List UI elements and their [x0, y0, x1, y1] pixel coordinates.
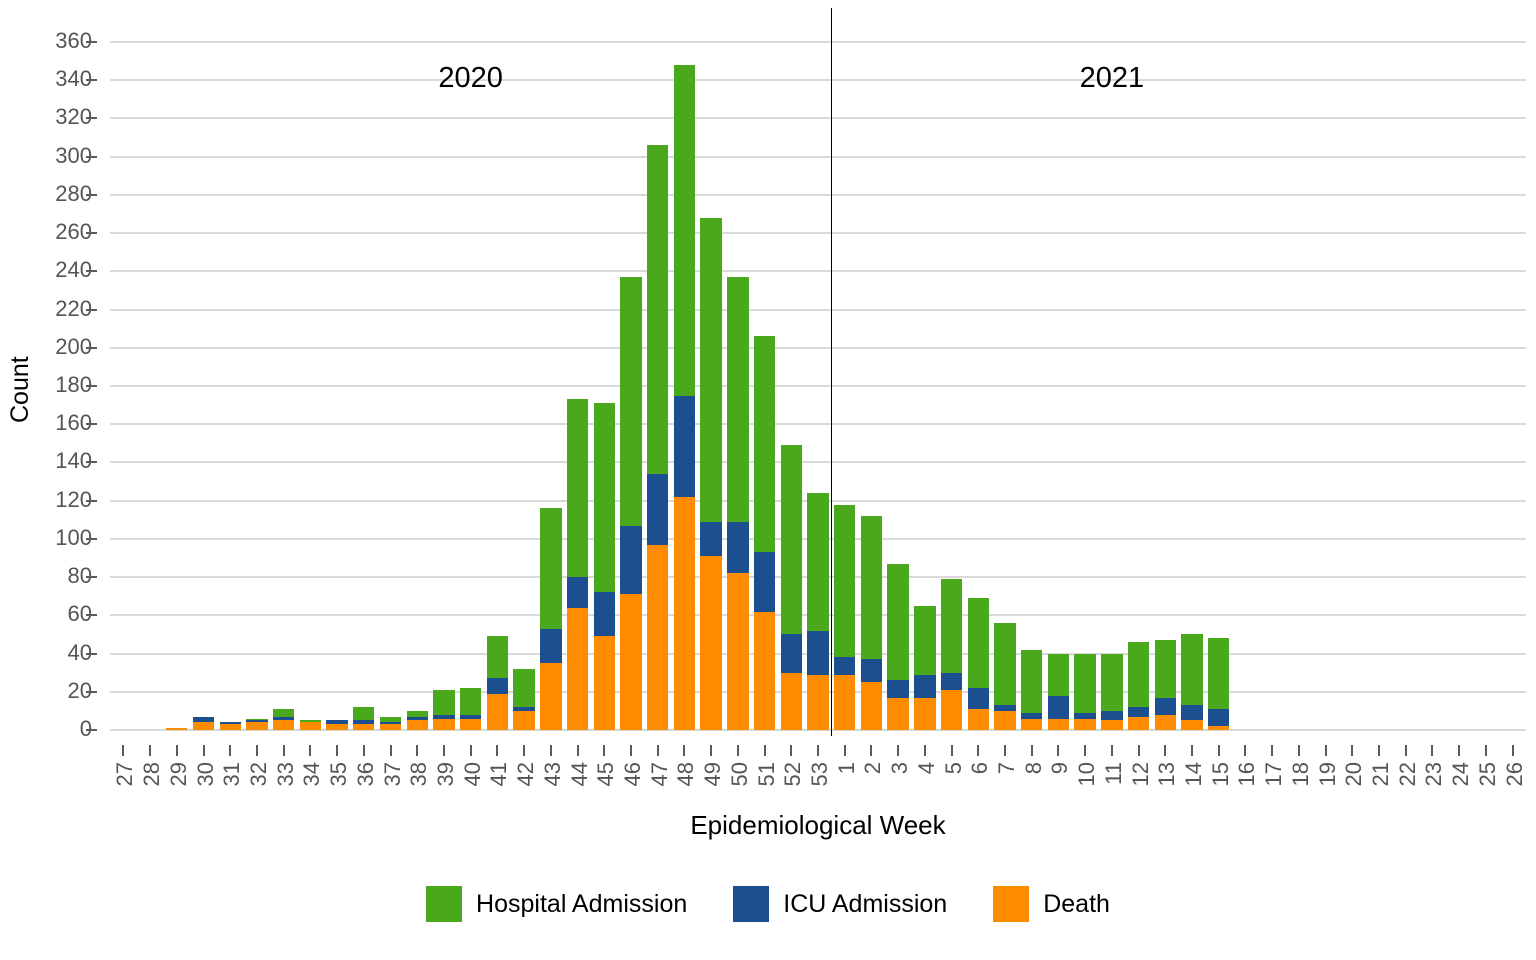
- bar-segment-hospital-admission[interactable]: [700, 218, 721, 522]
- x-axis-tick-mark: [496, 745, 498, 756]
- bar-segment-death[interactable]: [994, 711, 1015, 730]
- bar-group-week-10[interactable]: [1074, 654, 1095, 730]
- bar-segment-death[interactable]: [620, 594, 641, 730]
- y-axis-tick-label: 100: [12, 529, 92, 547]
- x-axis-tick-label: 51: [754, 762, 776, 786]
- bar-group-week-5[interactable]: [941, 579, 962, 730]
- bar-group-week-13[interactable]: [1155, 640, 1176, 730]
- bar-segment-icu-admission[interactable]: [540, 629, 561, 663]
- bar-segment-death[interactable]: [887, 698, 908, 730]
- bar-segment-death[interactable]: [1155, 715, 1176, 730]
- legend-label: Death: [1043, 890, 1110, 919]
- bar-group-week-4[interactable]: [914, 606, 935, 730]
- y-axis-tick-mark: [86, 423, 97, 425]
- bar-group-week-38[interactable]: [407, 711, 428, 730]
- bar-segment-death[interactable]: [807, 675, 828, 730]
- x-axis-tick-label: 38: [406, 762, 428, 786]
- x-axis-tick-label: 40: [460, 762, 482, 786]
- y-axis-tick-label: 320: [12, 108, 92, 126]
- x-axis-tick-label: 9: [1047, 762, 1069, 774]
- y-axis-tick-mark: [86, 576, 97, 578]
- x-axis-tick-mark: [390, 745, 392, 756]
- bar-segment-death[interactable]: [941, 690, 962, 730]
- x-axis-tick-label: 2: [860, 762, 882, 774]
- x-axis-tick-label: 21: [1368, 762, 1390, 786]
- x-axis-tick-mark: [1057, 745, 1059, 756]
- x-axis-tick-label: 11: [1101, 762, 1123, 785]
- bar-segment-hospital-admission[interactable]: [487, 636, 508, 678]
- x-axis-tick-mark: [764, 745, 766, 756]
- bar-segment-hospital-admission[interactable]: [994, 623, 1015, 705]
- bar-group-week-40[interactable]: [460, 688, 481, 730]
- bar-segment-icu-admission[interactable]: [914, 675, 935, 698]
- x-axis-tick-label: 34: [299, 762, 321, 786]
- bar-group-week-36[interactable]: [353, 707, 374, 730]
- x-axis-tick-label: 4: [914, 762, 936, 774]
- bar-segment-hospital-admission[interactable]: [941, 579, 962, 673]
- y-axis-tick-mark: [86, 653, 97, 655]
- bar-group-week-47[interactable]: [647, 145, 668, 730]
- bar-segment-death[interactable]: [968, 709, 989, 730]
- x-axis-tick-label: 19: [1315, 762, 1337, 786]
- bar-segment-death[interactable]: [914, 698, 935, 730]
- x-axis-tick-label: 43: [540, 762, 562, 786]
- x-axis-tick-label: 47: [647, 762, 669, 786]
- bar-group-week-46[interactable]: [620, 277, 641, 730]
- bar-segment-hospital-admission[interactable]: [834, 505, 855, 658]
- bar-segment-death[interactable]: [1181, 720, 1202, 730]
- x-axis-tick-mark: [336, 745, 338, 756]
- y-axis-tick-mark: [86, 461, 97, 463]
- x-axis-tick-label: 12: [1128, 762, 1150, 786]
- bar-segment-hospital-admission[interactable]: [781, 445, 802, 634]
- bar-segment-icu-admission[interactable]: [1101, 711, 1122, 721]
- y-axis-tick-mark: [86, 270, 97, 272]
- bar-segment-death[interactable]: [487, 694, 508, 730]
- bar-segment-death[interactable]: [647, 545, 668, 730]
- y-axis-tick-mark: [86, 500, 97, 502]
- bar-layer: [110, 42, 1526, 730]
- legend-swatch-icon: [993, 886, 1029, 922]
- bar-segment-hospital-admission[interactable]: [567, 399, 588, 577]
- bar-group-week-48[interactable]: [674, 65, 695, 730]
- bar-segment-hospital-admission[interactable]: [540, 508, 561, 628]
- x-axis-tick-label: 35: [326, 762, 348, 786]
- x-axis-tick-mark: [1111, 745, 1113, 756]
- x-axis-tick-mark: [470, 745, 472, 756]
- bar-group-week-8[interactable]: [1021, 650, 1042, 730]
- bar-segment-death[interactable]: [246, 722, 267, 730]
- x-axis-tick-mark: [977, 745, 979, 756]
- y-axis-tick-mark: [86, 156, 97, 158]
- x-axis-tick-label: 6: [967, 762, 989, 774]
- legend-swatch-icon: [733, 886, 769, 922]
- y-axis-tick-mark: [86, 194, 97, 196]
- x-axis-tick-label: 46: [620, 762, 642, 786]
- x-axis-tick-mark: [1218, 745, 1220, 756]
- x-axis-tick-label: 28: [139, 762, 161, 786]
- x-axis-tick-label: 53: [807, 762, 829, 786]
- bar-segment-death[interactable]: [567, 608, 588, 730]
- bar-segment-death[interactable]: [700, 556, 721, 730]
- y-axis-tick-layer: 0204060801001201401601802002202402602803…: [0, 0, 92, 960]
- bar-group-week-11[interactable]: [1101, 654, 1122, 730]
- x-axis-tick-mark: [1485, 745, 1487, 756]
- legend-label: Hospital Admission: [476, 890, 687, 919]
- bar-segment-death[interactable]: [674, 497, 695, 730]
- y-axis-tick-mark: [86, 614, 97, 616]
- bar-segment-icu-admission[interactable]: [620, 526, 641, 595]
- bar-group-week-45[interactable]: [594, 403, 615, 730]
- bar-segment-death[interactable]: [1128, 717, 1149, 730]
- epi-week-stacked-bar-chart: Count 0204060801001201401601802002202402…: [0, 0, 1536, 960]
- bar-segment-icu-admission[interactable]: [674, 396, 695, 497]
- x-axis-tick-label: 14: [1181, 762, 1203, 786]
- y-axis-tick-label: 220: [12, 300, 92, 318]
- y-axis-tick-mark: [86, 347, 97, 349]
- bar-group-week-32[interactable]: [246, 719, 267, 730]
- bar-segment-death[interactable]: [781, 673, 802, 730]
- y-axis-tick-label: 200: [12, 338, 92, 356]
- y-axis-tick-mark: [86, 117, 97, 119]
- x-axis-tick-label: 15: [1208, 762, 1230, 786]
- x-axis-tick-mark: [897, 745, 899, 756]
- bar-group-week-15[interactable]: [1208, 638, 1229, 730]
- x-axis-tick-label: 32: [246, 762, 268, 786]
- x-axis-tick-mark: [951, 745, 953, 756]
- bar-segment-hospital-admission[interactable]: [1074, 654, 1095, 713]
- bar-segment-hospital-admission[interactable]: [460, 688, 481, 715]
- bar-segment-icu-admission[interactable]: [567, 577, 588, 608]
- bar-segment-icu-admission[interactable]: [968, 688, 989, 709]
- bar-segment-hospital-admission[interactable]: [887, 564, 908, 681]
- bar-group-week-44[interactable]: [567, 399, 588, 730]
- bar-segment-icu-admission[interactable]: [807, 631, 828, 675]
- x-axis-tick-label: 49: [700, 762, 722, 786]
- y-axis-tick-mark: [86, 691, 97, 693]
- bar-group-week-43[interactable]: [540, 508, 561, 730]
- x-axis-tick-label: 18: [1288, 762, 1310, 786]
- bar-segment-death[interactable]: [513, 711, 534, 730]
- x-axis-tick-mark: [1378, 745, 1380, 756]
- y-axis-tick-mark: [86, 538, 97, 540]
- x-axis-tick-label: 7: [994, 762, 1016, 774]
- bar-segment-icu-admission[interactable]: [727, 522, 748, 574]
- bar-segment-hospital-admission[interactable]: [914, 606, 935, 675]
- y-axis-tick-mark: [86, 232, 97, 234]
- x-axis-tick-mark: [844, 745, 846, 756]
- x-axis-tick-label: 48: [673, 762, 695, 786]
- bar-group-week-37[interactable]: [380, 717, 401, 730]
- x-axis-tick-mark: [1325, 745, 1327, 756]
- bar-segment-death[interactable]: [754, 612, 775, 730]
- bar-segment-death[interactable]: [273, 720, 294, 730]
- x-axis-tick-mark: [176, 745, 178, 756]
- x-axis-tick-label: 50: [727, 762, 749, 786]
- x-axis-tick-label: 42: [513, 762, 535, 786]
- x-axis-tick-mark: [577, 745, 579, 756]
- bar-segment-death[interactable]: [1021, 719, 1042, 730]
- x-axis-tick-mark: [817, 745, 819, 756]
- x-axis-tick-label: 23: [1421, 762, 1443, 786]
- y-axis-tick-label: 20: [12, 682, 92, 700]
- bar-segment-icu-admission[interactable]: [1128, 707, 1149, 717]
- x-axis-tick-mark: [1405, 745, 1407, 756]
- bar-segment-icu-admission[interactable]: [700, 522, 721, 556]
- bar-segment-hospital-admission[interactable]: [647, 145, 668, 474]
- x-axis-tick-label: 41: [486, 762, 508, 786]
- bar-segment-icu-admission[interactable]: [754, 552, 775, 611]
- bar-group-week-39[interactable]: [433, 690, 454, 730]
- x-axis-tick-mark: [1458, 745, 1460, 756]
- bar-segment-icu-admission[interactable]: [1181, 705, 1202, 720]
- bar-group-week-51[interactable]: [754, 336, 775, 730]
- x-axis-tick-mark: [122, 745, 124, 756]
- y-axis-tick-label: 300: [12, 147, 92, 165]
- x-axis-tick-mark: [1138, 745, 1140, 756]
- bar-group-week-3[interactable]: [887, 564, 908, 730]
- y-axis-tick-label: 40: [12, 644, 92, 662]
- bar-segment-icu-admission[interactable]: [861, 659, 882, 682]
- bar-group-week-42[interactable]: [513, 669, 534, 730]
- bar-group-week-1[interactable]: [834, 505, 855, 730]
- x-axis-tick-label: 31: [219, 762, 241, 786]
- x-axis-tick-mark: [630, 745, 632, 756]
- bar-segment-death[interactable]: [193, 722, 214, 730]
- x-axis-tick-label: 22: [1395, 762, 1417, 786]
- y-axis-tick-label: 180: [12, 376, 92, 394]
- x-axis-tick-label: 26: [1502, 762, 1524, 786]
- x-axis-tick-label: 3: [887, 762, 909, 774]
- bar-group-week-9[interactable]: [1048, 654, 1069, 730]
- x-axis-tick-mark: [309, 745, 311, 756]
- chart-legend: Hospital AdmissionICU AdmissionDeath: [0, 886, 1536, 922]
- y-axis-tick-mark: [86, 79, 97, 81]
- bar-segment-death[interactable]: [540, 663, 561, 730]
- bar-segment-hospital-admission[interactable]: [594, 403, 615, 592]
- x-axis-tick-label: 25: [1475, 762, 1497, 786]
- x-axis-tick-mark: [1191, 745, 1193, 756]
- y-axis-tick-label: 240: [12, 261, 92, 279]
- x-axis-tick-label: 5: [941, 762, 963, 774]
- bar-segment-icu-admission[interactable]: [1048, 696, 1069, 719]
- bar-group-week-12[interactable]: [1128, 642, 1149, 730]
- bar-segment-hospital-admission[interactable]: [513, 669, 534, 707]
- x-axis-tick-mark: [870, 745, 872, 756]
- bar-segment-death[interactable]: [300, 722, 321, 730]
- bar-segment-hospital-admission[interactable]: [674, 65, 695, 396]
- y-axis-tick-mark: [86, 309, 97, 311]
- x-axis-tick-mark: [149, 745, 151, 756]
- bar-segment-hospital-admission[interactable]: [1155, 640, 1176, 697]
- bar-segment-icu-admission[interactable]: [834, 657, 855, 674]
- y-axis-tick-label: 340: [12, 70, 92, 88]
- x-axis-tick-label: 45: [593, 762, 615, 786]
- legend-label: ICU Admission: [783, 890, 947, 919]
- bar-segment-death[interactable]: [594, 636, 615, 730]
- bar-group-week-49[interactable]: [700, 218, 721, 730]
- x-axis-tick-mark: [1084, 745, 1086, 756]
- x-axis-tick-mark: [550, 745, 552, 756]
- x-axis-tick-mark: [710, 745, 712, 756]
- bar-segment-hospital-admission[interactable]: [968, 598, 989, 688]
- x-axis-tick-mark: [229, 745, 231, 756]
- x-axis-tick-mark: [1004, 745, 1006, 756]
- x-axis-tick-label: 39: [433, 762, 455, 786]
- y-axis-tick-label: 360: [12, 32, 92, 50]
- bar-group-week-30[interactable]: [193, 717, 214, 730]
- bar-segment-death[interactable]: [834, 675, 855, 730]
- x-axis-tick-mark: [283, 745, 285, 756]
- bar-segment-death[interactable]: [407, 720, 428, 730]
- x-axis-tick-label: 20: [1341, 762, 1363, 786]
- x-axis-tick-label: 44: [567, 762, 589, 786]
- x-axis-title: Epidemiological Week: [110, 810, 1526, 841]
- x-axis-tick-label: 8: [1021, 762, 1043, 774]
- y-axis-tick-label: 260: [12, 223, 92, 241]
- x-axis-tick-mark: [1164, 745, 1166, 756]
- x-axis-tick-label: 33: [273, 762, 295, 786]
- x-axis-tick-label: 10: [1074, 762, 1096, 786]
- x-axis-tick-label: 17: [1261, 762, 1283, 786]
- x-axis-tick-label: 1: [834, 762, 856, 774]
- legend-item-death[interactable]: Death: [993, 886, 1110, 922]
- bar-segment-hospital-admission[interactable]: [620, 277, 641, 525]
- legend-item-hospital-admission[interactable]: Hospital Admission: [426, 886, 687, 922]
- x-axis-tick-label: 30: [193, 762, 215, 786]
- x-axis-tick-mark: [1431, 745, 1433, 756]
- x-axis-tick-label: 24: [1448, 762, 1470, 786]
- bar-segment-icu-admission[interactable]: [941, 673, 962, 690]
- bar-group-week-50[interactable]: [727, 277, 748, 730]
- bar-segment-death[interactable]: [727, 573, 748, 730]
- bar-segment-hospital-admission[interactable]: [353, 707, 374, 720]
- bar-segment-death[interactable]: [433, 719, 454, 730]
- bar-segment-hospital-admission[interactable]: [433, 690, 454, 715]
- bar-group-week-53[interactable]: [807, 493, 828, 730]
- x-axis-tick-mark: [1271, 745, 1273, 756]
- x-axis-tick-mark: [657, 745, 659, 756]
- x-axis-tick-mark: [523, 745, 525, 756]
- legend-item-icu-admission[interactable]: ICU Admission: [733, 886, 947, 922]
- bar-segment-hospital-admission[interactable]: [1128, 642, 1149, 707]
- bar-group-week-31[interactable]: [220, 722, 241, 730]
- y-axis-tick-label: 280: [12, 185, 92, 203]
- bar-group-week-6[interactable]: [968, 598, 989, 730]
- y-axis-tick-label: 120: [12, 491, 92, 509]
- bar-segment-hospital-admission[interactable]: [861, 516, 882, 659]
- bar-group-week-35[interactable]: [326, 720, 347, 730]
- y-axis-tick-mark: [86, 385, 97, 387]
- bar-group-week-52[interactable]: [781, 445, 802, 730]
- bar-segment-hospital-admission[interactable]: [754, 336, 775, 552]
- legend-swatch-icon: [426, 886, 462, 922]
- bar-segment-icu-admission[interactable]: [594, 592, 615, 636]
- x-axis-tick-label: 13: [1154, 762, 1176, 786]
- y-axis-tick-mark: [86, 729, 97, 731]
- bar-segment-hospital-admission[interactable]: [1208, 638, 1229, 709]
- bar-segment-hospital-admission[interactable]: [1048, 654, 1069, 696]
- y-axis-tick-label: 60: [12, 605, 92, 623]
- x-axis-tick-mark: [256, 745, 258, 756]
- x-axis-tick-mark: [1298, 745, 1300, 756]
- bar-segment-icu-admission[interactable]: [487, 678, 508, 693]
- x-axis-tick-mark: [737, 745, 739, 756]
- bar-segment-death[interactable]: [1074, 719, 1095, 730]
- x-axis-tick-mark: [363, 745, 365, 756]
- x-axis-tick-mark: [1351, 745, 1353, 756]
- x-axis-tick-mark: [1244, 745, 1246, 756]
- bar-segment-hospital-admission[interactable]: [1101, 654, 1122, 711]
- bar-segment-icu-admission[interactable]: [1208, 709, 1229, 726]
- x-axis-tick-mark: [790, 745, 792, 756]
- bar-group-week-41[interactable]: [487, 636, 508, 730]
- x-axis-tick-mark: [1031, 745, 1033, 756]
- x-axis-tick-label: 52: [780, 762, 802, 786]
- bar-segment-icu-admission[interactable]: [887, 680, 908, 697]
- bar-segment-death[interactable]: [861, 682, 882, 730]
- y-axis-tick-label: 80: [12, 567, 92, 585]
- x-axis-tick-label: 29: [166, 762, 188, 786]
- bar-segment-death[interactable]: [460, 719, 481, 730]
- bar-group-week-34[interactable]: [300, 720, 321, 730]
- y-axis-tick-label: 140: [12, 452, 92, 470]
- bar-segment-hospital-admission[interactable]: [807, 493, 828, 631]
- bar-segment-icu-admission[interactable]: [647, 474, 668, 545]
- y-axis-tick-mark: [86, 41, 97, 43]
- x-axis-tick-mark: [1512, 745, 1514, 756]
- x-axis-tick-mark: [924, 745, 926, 756]
- x-axis-tick-label: 16: [1234, 762, 1256, 786]
- x-axis-tick-label: 36: [353, 762, 375, 786]
- x-axis-tick-mark: [203, 745, 205, 756]
- bar-segment-death[interactable]: [1101, 720, 1122, 730]
- bar-group-week-2[interactable]: [861, 516, 882, 730]
- x-axis-tick-label: 27: [112, 762, 134, 786]
- bar-segment-hospital-admission[interactable]: [1021, 650, 1042, 713]
- bar-group-week-33[interactable]: [273, 709, 294, 730]
- bar-group-week-14[interactable]: [1181, 634, 1202, 730]
- bar-segment-death[interactable]: [1048, 719, 1069, 730]
- x-axis-tick-mark: [416, 745, 418, 756]
- bar-segment-hospital-admission[interactable]: [273, 709, 294, 717]
- bar-segment-icu-admission[interactable]: [1155, 698, 1176, 715]
- y-axis-tick-label: 0: [12, 720, 92, 738]
- bar-segment-hospital-admission[interactable]: [1181, 634, 1202, 705]
- x-axis-tick-label: 37: [380, 762, 402, 786]
- x-axis-tick-mark: [683, 745, 685, 756]
- x-axis-tick-mark: [603, 745, 605, 756]
- bar-segment-hospital-admission[interactable]: [727, 277, 748, 522]
- bar-segment-icu-admission[interactable]: [781, 634, 802, 672]
- x-axis-tick-mark: [443, 745, 445, 756]
- y-axis-tick-label: 160: [12, 414, 92, 432]
- bar-group-week-7[interactable]: [994, 623, 1015, 730]
